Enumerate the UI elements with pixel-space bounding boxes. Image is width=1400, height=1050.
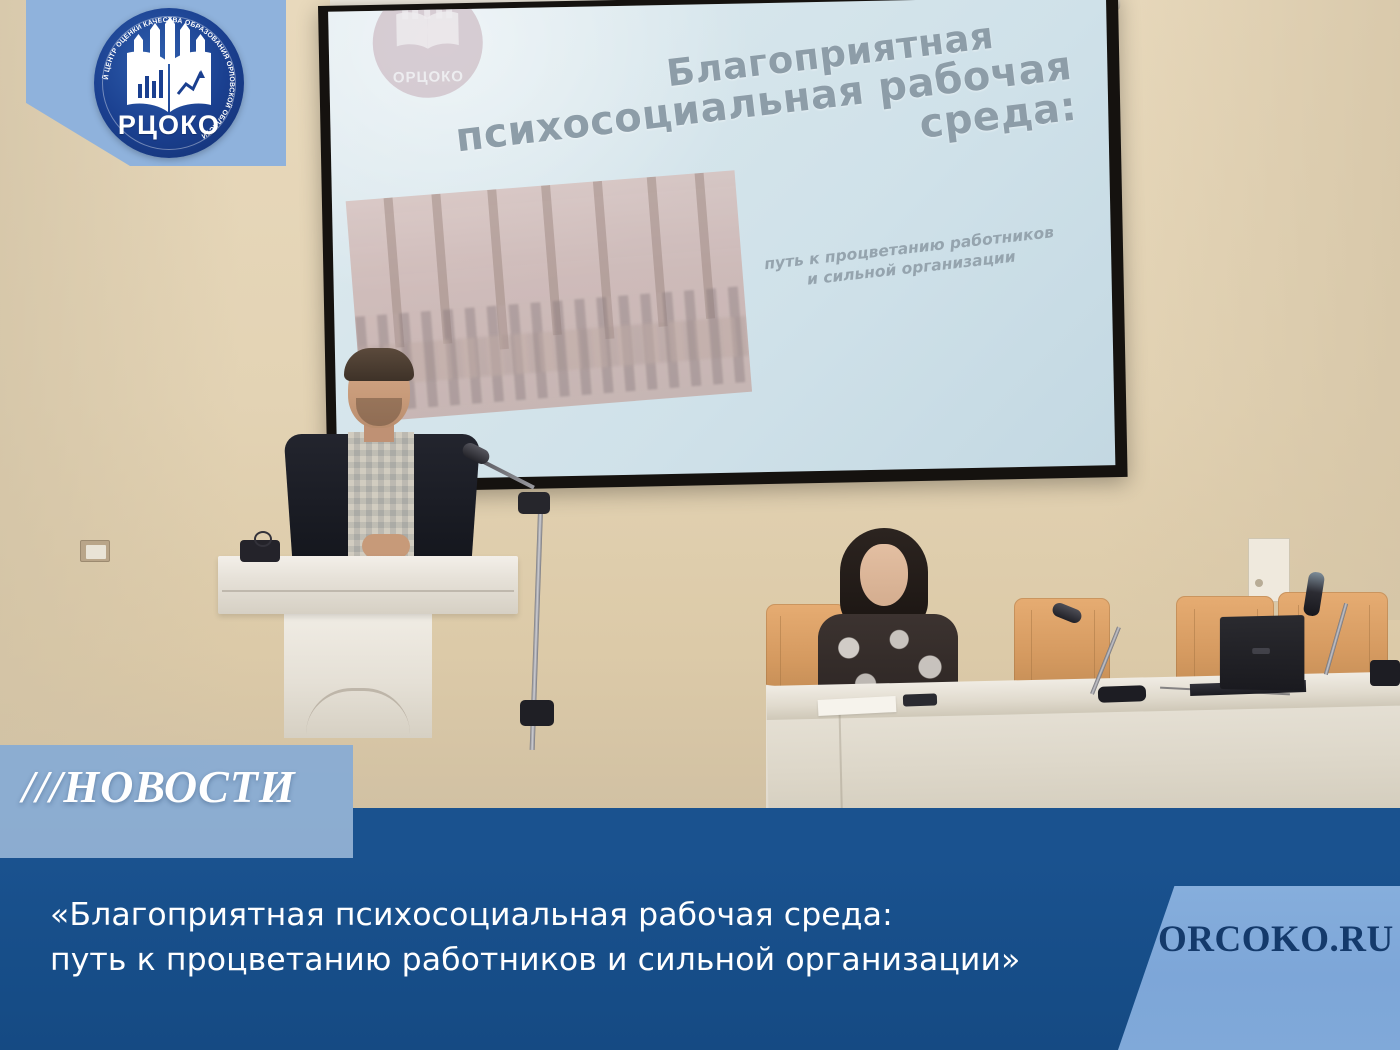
microphone-stand-base xyxy=(520,700,554,726)
site-url-label: ORCOKO.RU xyxy=(1158,918,1400,961)
card-caption: «Благоприятная психосоциальная рабочая с… xyxy=(50,893,1140,984)
phone-on-table xyxy=(903,693,937,706)
laptop-icon xyxy=(1220,615,1304,691)
microphone-stand-joint xyxy=(518,492,550,514)
slide-book-icon xyxy=(390,5,465,52)
section-label: ///НОВОСТИ xyxy=(22,760,362,813)
caption-line-2: путь к процветанию работников и сильной … xyxy=(50,938,1140,983)
wall-shadow-right xyxy=(1100,0,1400,620)
podium-clamp xyxy=(240,540,280,562)
footer-bar-upper xyxy=(353,808,1400,860)
news-card: ОРЦОКО Благоприятная психосоциальная раб… xyxy=(0,0,1400,1050)
rcoko-logo: РЕГИОНАЛЬНЫЙ ЦЕНТР ОЦЕНКИ КАЧЕСТВА ОБРАЗ… xyxy=(94,8,244,158)
table-microphone-base xyxy=(1098,685,1147,703)
podium xyxy=(218,556,518,736)
wall-socket xyxy=(80,540,110,562)
logo-acronym: РЦОКО xyxy=(94,110,244,141)
caption-line-1: «Благоприятная психосоциальная рабочая с… xyxy=(50,893,1140,938)
equipment-box xyxy=(1370,660,1400,686)
speaker-person xyxy=(280,348,490,572)
